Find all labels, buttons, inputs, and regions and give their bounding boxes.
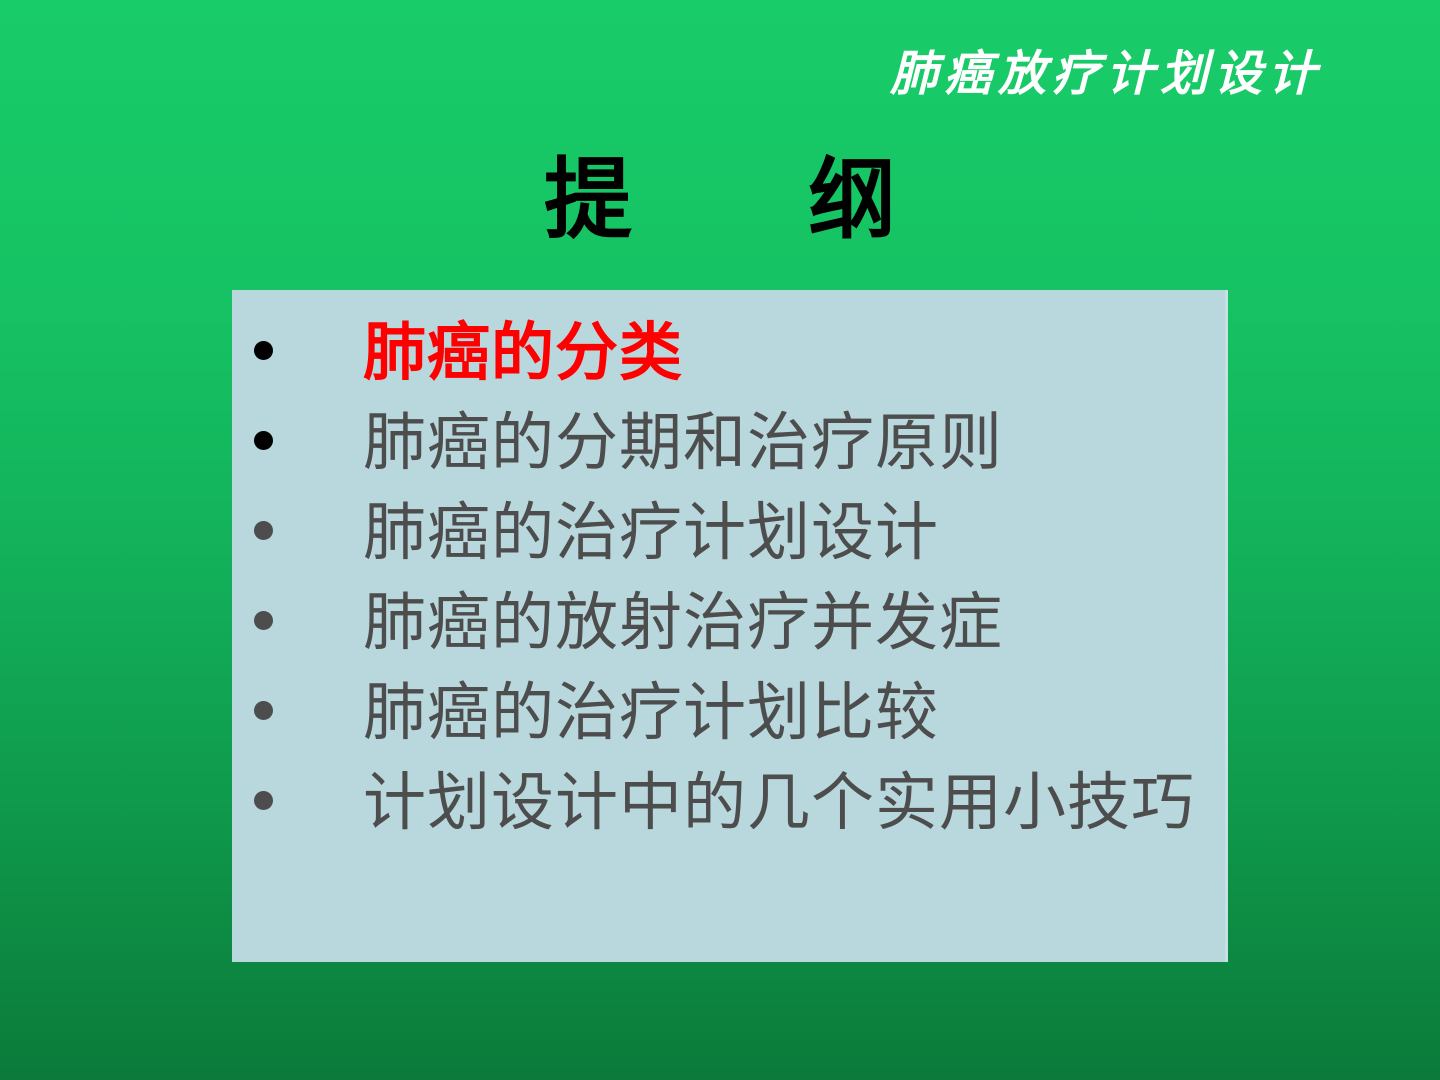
list-item-label: 肺癌的分类 [363, 308, 1225, 398]
list-item[interactable]: 肺癌的分类 [232, 308, 1225, 398]
list-item[interactable]: 计划设计中的几个实用小技巧 [232, 758, 1225, 848]
list-item[interactable]: 肺癌的放射治疗并发症 [232, 578, 1225, 668]
bullet-dot-icon [254, 521, 273, 540]
list-item-label: 肺癌的放射治疗并发症 [363, 578, 1225, 668]
bullet-dot-icon [254, 431, 273, 450]
outline-panel: 肺癌的分类 肺癌的分期和治疗原则 肺癌的治疗计划设计 肺癌的放射治疗并发症 肺癌… [232, 290, 1228, 962]
outline-list: 肺癌的分类 肺癌的分期和治疗原则 肺癌的治疗计划设计 肺癌的放射治疗并发症 肺癌… [232, 290, 1225, 848]
list-item[interactable]: 肺癌的治疗计划设计 [232, 488, 1225, 578]
bullet-dot-icon [254, 611, 273, 630]
list-item-label: 肺癌的治疗计划比较 [363, 668, 1225, 758]
bullet-dot-icon [254, 701, 273, 720]
list-item-label: 计划设计中的几个实用小技巧 [363, 758, 1225, 848]
presentation-slide: 肺癌放疗计划设计 提 纲 肺癌的分类 肺癌的分期和治疗原则 肺癌的治疗计划设计 … [0, 0, 1440, 1080]
slide-running-header: 肺癌放疗计划设计 [890, 46, 1322, 104]
list-item-label: 肺癌的治疗计划设计 [363, 488, 1225, 578]
list-item[interactable]: 肺癌的分期和治疗原则 [232, 398, 1225, 488]
list-item-label: 肺癌的分期和治疗原则 [363, 398, 1225, 488]
page-title: 提 纲 [0, 148, 1440, 252]
bullet-dot-icon [254, 791, 273, 810]
bullet-dot-icon [254, 341, 273, 360]
list-item[interactable]: 肺癌的治疗计划比较 [232, 668, 1225, 758]
